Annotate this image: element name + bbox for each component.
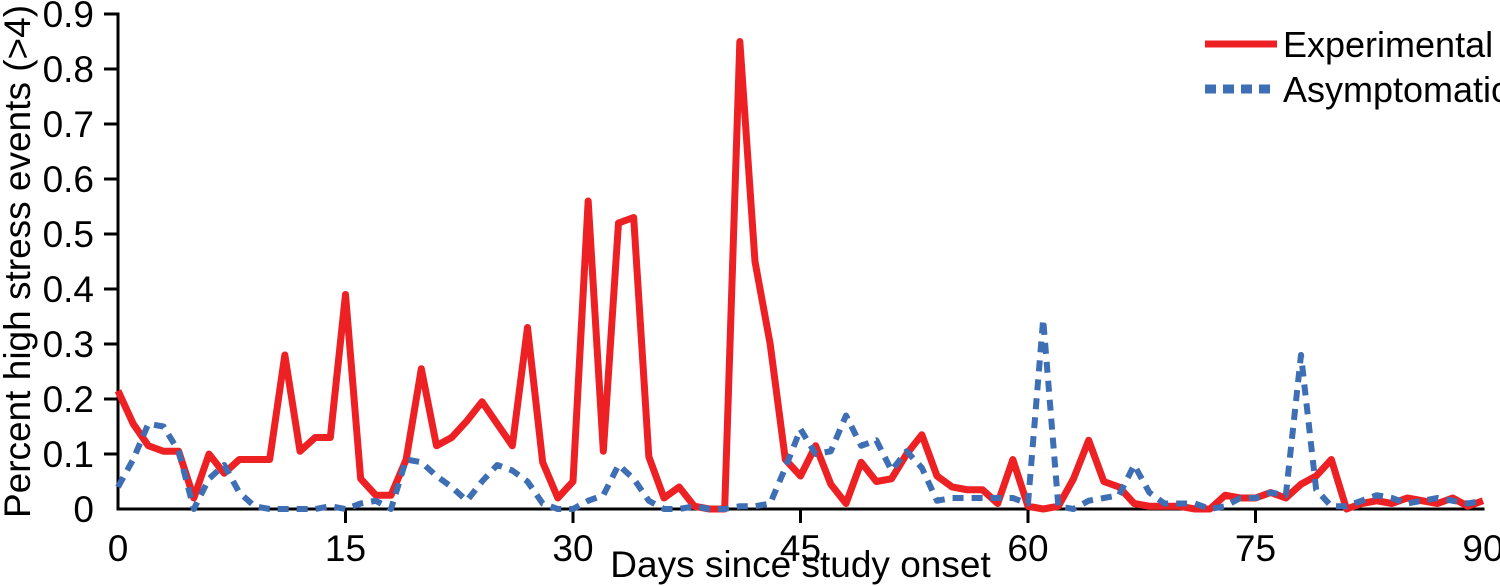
x-axis-title: Days since study onset xyxy=(610,544,991,585)
chart-legend: ExperimentalAsymptomatic xyxy=(1205,24,1500,110)
x-tick-label: 15 xyxy=(325,528,366,569)
y-axis: 00.10.20.30.40.50.60.70.80.9 xyxy=(43,0,118,530)
y-axis-title: Percent high stress events (>4) xyxy=(0,5,38,518)
y-tick-label: 0.7 xyxy=(43,104,94,145)
y-tick-label: 0.4 xyxy=(43,269,94,310)
y-tick-label: 0.3 xyxy=(43,324,94,365)
y-tick-label: 0.2 xyxy=(43,379,94,420)
y-tick-label: 0 xyxy=(73,489,94,530)
y-tick-label: 0.8 xyxy=(43,49,94,90)
series-line-experimental xyxy=(118,42,1483,510)
legend-label-asymptomatic: Asymptomatic xyxy=(1283,69,1500,110)
y-tick-label: 0.9 xyxy=(43,0,94,35)
y-tick-label: 0.1 xyxy=(43,434,94,475)
x-tick-label: 90 xyxy=(1462,528,1500,569)
series-lines xyxy=(118,42,1483,510)
x-tick-label: 30 xyxy=(552,528,593,569)
y-tick-label: 0.6 xyxy=(43,159,94,200)
chart-canvas: 00.10.20.30.40.50.60.70.80.9 01530456075… xyxy=(0,0,1500,586)
chart-figure: 00.10.20.30.40.50.60.70.80.9 01530456075… xyxy=(0,0,1500,586)
series-line-asymptomatic xyxy=(118,319,1483,509)
legend-label-experimental: Experimental xyxy=(1283,24,1493,65)
x-tick-label: 75 xyxy=(1235,528,1276,569)
y-tick-label: 0.5 xyxy=(43,214,94,255)
x-tick-label: 60 xyxy=(1007,528,1048,569)
x-tick-label: 0 xyxy=(108,528,129,569)
